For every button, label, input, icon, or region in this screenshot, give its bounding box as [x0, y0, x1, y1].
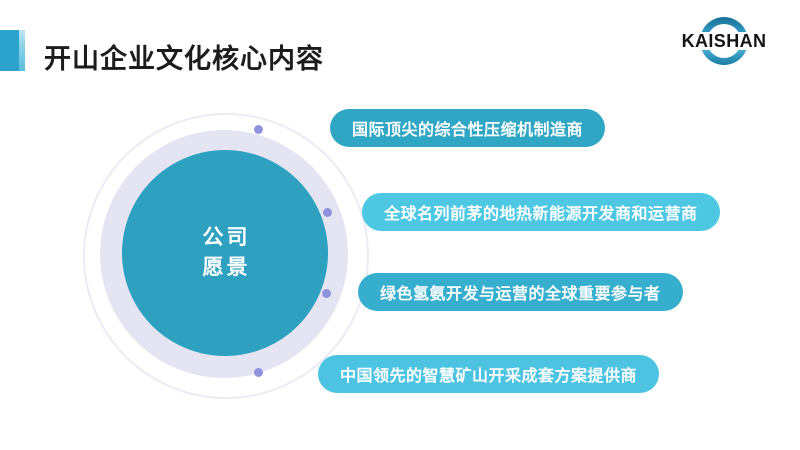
logo-wordmark: KAISHAN: [682, 31, 767, 51]
vision-item-3-label: 绿色氢氨开发与运营的全球重要参与者: [380, 280, 661, 304]
title-accent-highlight: [19, 30, 25, 71]
vision-item-2[interactable]: 全球名列前茅的地热新能源开发商和运营商: [362, 193, 720, 231]
slide-canvas: 开山企业文化核心内容 KAISHAN: [0, 0, 800, 450]
vision-item-4[interactable]: 中国领先的智慧矿山开采成套方案提供商: [318, 355, 659, 393]
vision-item-4-label: 中国领先的智慧矿山开采成套方案提供商: [340, 362, 637, 386]
kaishan-ring-logo: KAISHAN: [664, 10, 784, 72]
kaishan-logo: KAISHAN: [664, 10, 784, 72]
connector-dot-4: [254, 368, 263, 377]
vision-item-2-label: 全球名列前茅的地热新能源开发商和运营商: [384, 200, 698, 224]
vision-item-1-label: 国际顶尖的综合性压缩机制造商: [352, 116, 583, 140]
page-title: 开山企业文化核心内容: [44, 37, 324, 76]
connector-dot-2: [323, 208, 332, 217]
vision-item-1[interactable]: 国际顶尖的综合性压缩机制造商: [330, 109, 605, 147]
vision-label-line1: 公司: [200, 223, 251, 253]
connector-dot-3: [322, 289, 331, 298]
vision-item-3[interactable]: 绿色氢氨开发与运营的全球重要参与者: [358, 273, 683, 311]
vision-inner-circle: 公司 愿景: [122, 150, 328, 356]
connector-dot-1: [254, 125, 263, 134]
vision-label-line2: 愿景: [200, 253, 251, 283]
